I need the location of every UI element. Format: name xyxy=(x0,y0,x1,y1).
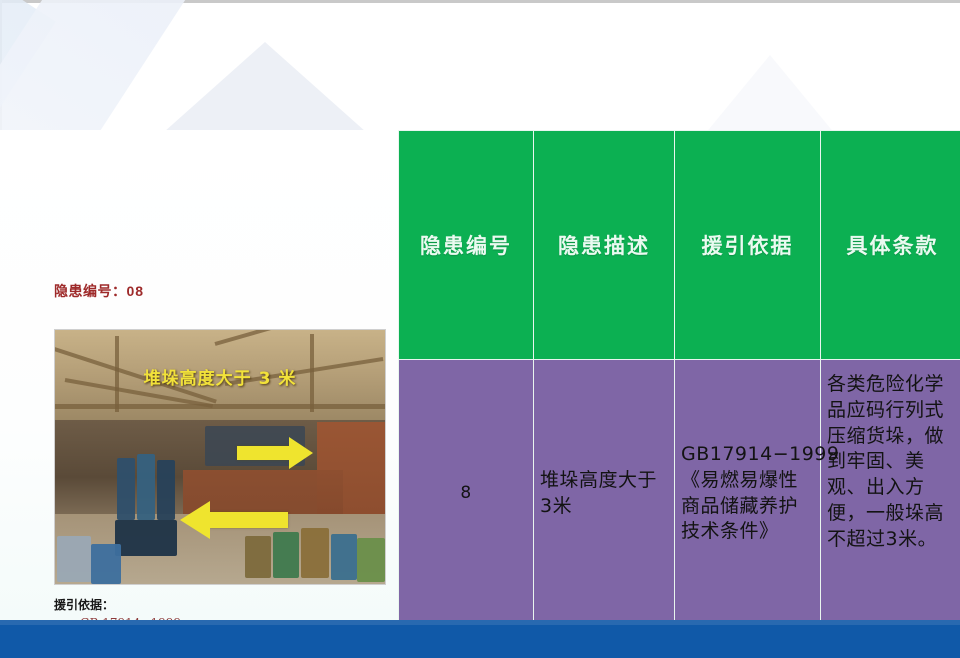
photo-drum-stack xyxy=(301,528,329,578)
photo-drum-stack xyxy=(115,520,177,556)
cell-reference-basis: GB17914−1999《易燃易爆性商品储藏养护技术条件》 xyxy=(675,360,821,628)
decorative-triangle-right xyxy=(700,55,840,140)
photo-drum-stack xyxy=(91,544,121,584)
photo-drum-stack xyxy=(357,538,385,582)
decorative-top-band xyxy=(0,0,960,140)
column-header-reference-basis[interactable]: 援引依据 xyxy=(675,131,821,360)
column-header-specific-clause[interactable]: 具体条款 xyxy=(821,131,960,360)
column-header-hazard-description[interactable]: 隐患描述 xyxy=(534,131,675,360)
reference-title: 援引依据： xyxy=(54,596,390,613)
table-header-row: 隐患编号 隐患描述 援引依据 具体条款 xyxy=(399,131,960,360)
photo-drum-stack xyxy=(245,536,271,578)
photo-drum-stack xyxy=(157,460,175,520)
photo-drum-stack xyxy=(117,458,135,520)
column-header-hazard-number[interactable]: 隐患编号 xyxy=(399,131,534,360)
slide-left-panel: 隐患编号：08 xyxy=(0,130,398,622)
photo-drum-stack xyxy=(273,532,299,578)
cell-hazard-number: 8 xyxy=(399,360,534,628)
hazard-table: 隐患编号 隐患描述 援引依据 具体条款 8 堆垛高度大于3米 GB17914−1… xyxy=(398,130,960,628)
photo-drum-stack xyxy=(57,536,91,582)
hazard-number-heading: 隐患编号：08 xyxy=(54,281,144,301)
photo-drum-stack xyxy=(137,454,155,520)
footer-bar xyxy=(0,620,960,658)
decorative-triangle-left xyxy=(155,42,375,140)
reference-text-block: 援引依据： GB 17914−1999 《易燃易爆性商品储藏养护技术条件》 具体… xyxy=(54,596,390,622)
hazard-table-container: 隐患编号 隐患描述 援引依据 具体条款 8 堆垛高度大于3米 GB17914−1… xyxy=(398,130,960,628)
photo-beam xyxy=(55,404,386,409)
yellow-arrow-left-icon xyxy=(210,512,288,528)
hazard-number-label: 隐患编号 xyxy=(54,284,112,300)
cell-specific-clause: 各类危险化学品应码行列式压缩货垛，做到牢固、美观、出入方便，一般垛高不超过3米。 xyxy=(821,360,960,628)
photo-drum-stack xyxy=(331,534,357,580)
table-row[interactable]: 8 堆垛高度大于3米 GB17914−1999《易燃易爆性商品储藏养护技术条件》… xyxy=(399,360,960,628)
hazard-photo: 堆垛高度大于 3 米 xyxy=(54,329,386,585)
footer-highlight xyxy=(0,620,960,625)
slide-canvas: 隐患编号：08 xyxy=(0,0,960,658)
cell-hazard-description: 堆垛高度大于3米 xyxy=(534,360,675,628)
hazard-table-head: 隐患编号 隐患描述 援引依据 具体条款 xyxy=(399,131,960,360)
hazard-number-colon: ： xyxy=(112,284,127,300)
yellow-arrow-right-icon xyxy=(237,446,289,460)
hazard-table-body: 8 堆垛高度大于3米 GB17914−1999《易燃易爆性商品储藏养护技术条件》… xyxy=(399,360,960,628)
photo-caption-text: 堆垛高度大于 3 米 xyxy=(55,364,385,389)
hazard-number-value: 08 xyxy=(127,283,145,299)
